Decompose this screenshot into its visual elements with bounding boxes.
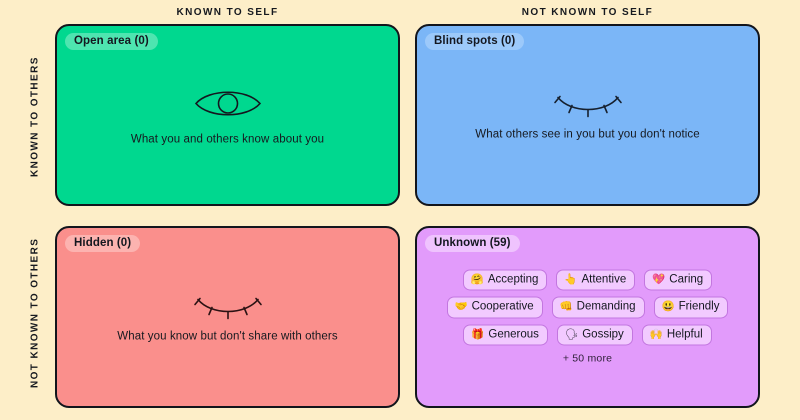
- hidden-badge: Hidden (0): [65, 235, 140, 252]
- trait-tag-label: Demanding: [577, 300, 636, 314]
- open-area-badge: Open area (0): [65, 33, 158, 50]
- trait-tag[interactable]: 👆Attentive: [556, 269, 635, 290]
- quadrant-open-area[interactable]: Open area (0) What you and others know a…: [55, 24, 400, 206]
- unknown-badge: Unknown (59): [425, 235, 520, 252]
- trait-tag[interactable]: 💖Caring: [644, 269, 712, 290]
- blind-spots-badge: Blind spots (0): [425, 33, 524, 50]
- column-header-known-to-self: KNOWN TO SELF: [55, 7, 400, 18]
- column-header-not-known-to-self: NOT KNOWN TO SELF: [415, 7, 760, 18]
- trait-tag[interactable]: 🤝Cooperative: [447, 297, 543, 318]
- speaking-head-emoji: 🗣: [565, 329, 578, 340]
- open-area-caption: What you and others know about you: [131, 134, 324, 146]
- trait-tag[interactable]: 🤗Accepting: [463, 269, 548, 290]
- closed-eye-icon: [193, 292, 263, 320]
- raising-hands-emoji: 🙌: [650, 329, 663, 340]
- quadrant-hidden[interactable]: Hidden (0) What you know but don't share…: [55, 226, 400, 408]
- gift-emoji: 🎁: [471, 329, 484, 340]
- sparkling-heart-emoji: 💖: [652, 274, 665, 285]
- trait-tag-label: Helpful: [667, 327, 703, 341]
- trait-tag[interactable]: 🎁Generous: [463, 324, 548, 345]
- trait-tag-label: Friendly: [679, 300, 720, 314]
- hidden-caption: What you know but don't share with other…: [117, 331, 337, 343]
- row-header-not-known-to-others: NOT KNOWN TO OTHERS: [24, 218, 46, 408]
- trait-tag-label: Accepting: [488, 272, 539, 286]
- trait-tag[interactable]: 🗣Gossipy: [557, 324, 633, 345]
- trait-tag-label: Generous: [488, 327, 539, 341]
- trait-tag-label: Caring: [669, 272, 703, 286]
- blind-spots-body: What others see in you but you don't not…: [417, 90, 758, 141]
- pointing-up-emoji: 👆: [564, 274, 577, 285]
- fist-emoji: 👊: [560, 302, 573, 313]
- quadrant-unknown[interactable]: Unknown (59) 🤗Accepting👆Attentive💖Caring…: [415, 226, 760, 408]
- trait-tag-label: Attentive: [581, 272, 626, 286]
- unknown-body: 🤗Accepting👆Attentive💖Caring🤝Cooperative👊…: [417, 269, 758, 364]
- quadrant-blind-spots[interactable]: Blind spots (0) What others see in you b…: [415, 24, 760, 206]
- trait-tag-label: Cooperative: [472, 300, 534, 314]
- trait-tag-list: 🤗Accepting👆Attentive💖Caring🤝Cooperative👊…: [447, 269, 729, 345]
- blind-spots-caption: What others see in you but you don't not…: [475, 129, 700, 141]
- trait-tag-row: 🎁Generous🗣Gossipy🙌Helpful: [463, 324, 711, 345]
- open-eye-icon: [193, 85, 263, 123]
- smiling-face-emoji: 😃: [662, 302, 675, 313]
- trait-tag-row: 🤝Cooperative👊Demanding😃Friendly: [447, 297, 729, 318]
- johari-window-grid: Open area (0) What you and others know a…: [55, 24, 760, 408]
- hidden-body: What you know but don't share with other…: [57, 292, 398, 343]
- open-area-body: What you and others know about you: [57, 85, 398, 146]
- hugging-face-emoji: 🤗: [471, 274, 484, 285]
- more-traits-label[interactable]: + 50 more: [563, 353, 612, 365]
- trait-tag[interactable]: 👊Demanding: [552, 297, 645, 318]
- trait-tag[interactable]: 😃Friendly: [654, 297, 729, 318]
- trait-tag[interactable]: 🙌Helpful: [642, 324, 712, 345]
- trait-tag-label: Gossipy: [582, 327, 624, 341]
- trait-tag-row: 🤗Accepting👆Attentive💖Caring: [463, 269, 712, 290]
- closed-eye-icon: [553, 90, 623, 118]
- handshake-emoji: 🤝: [455, 302, 468, 313]
- row-header-known-to-others: KNOWN TO OTHERS: [24, 24, 46, 209]
